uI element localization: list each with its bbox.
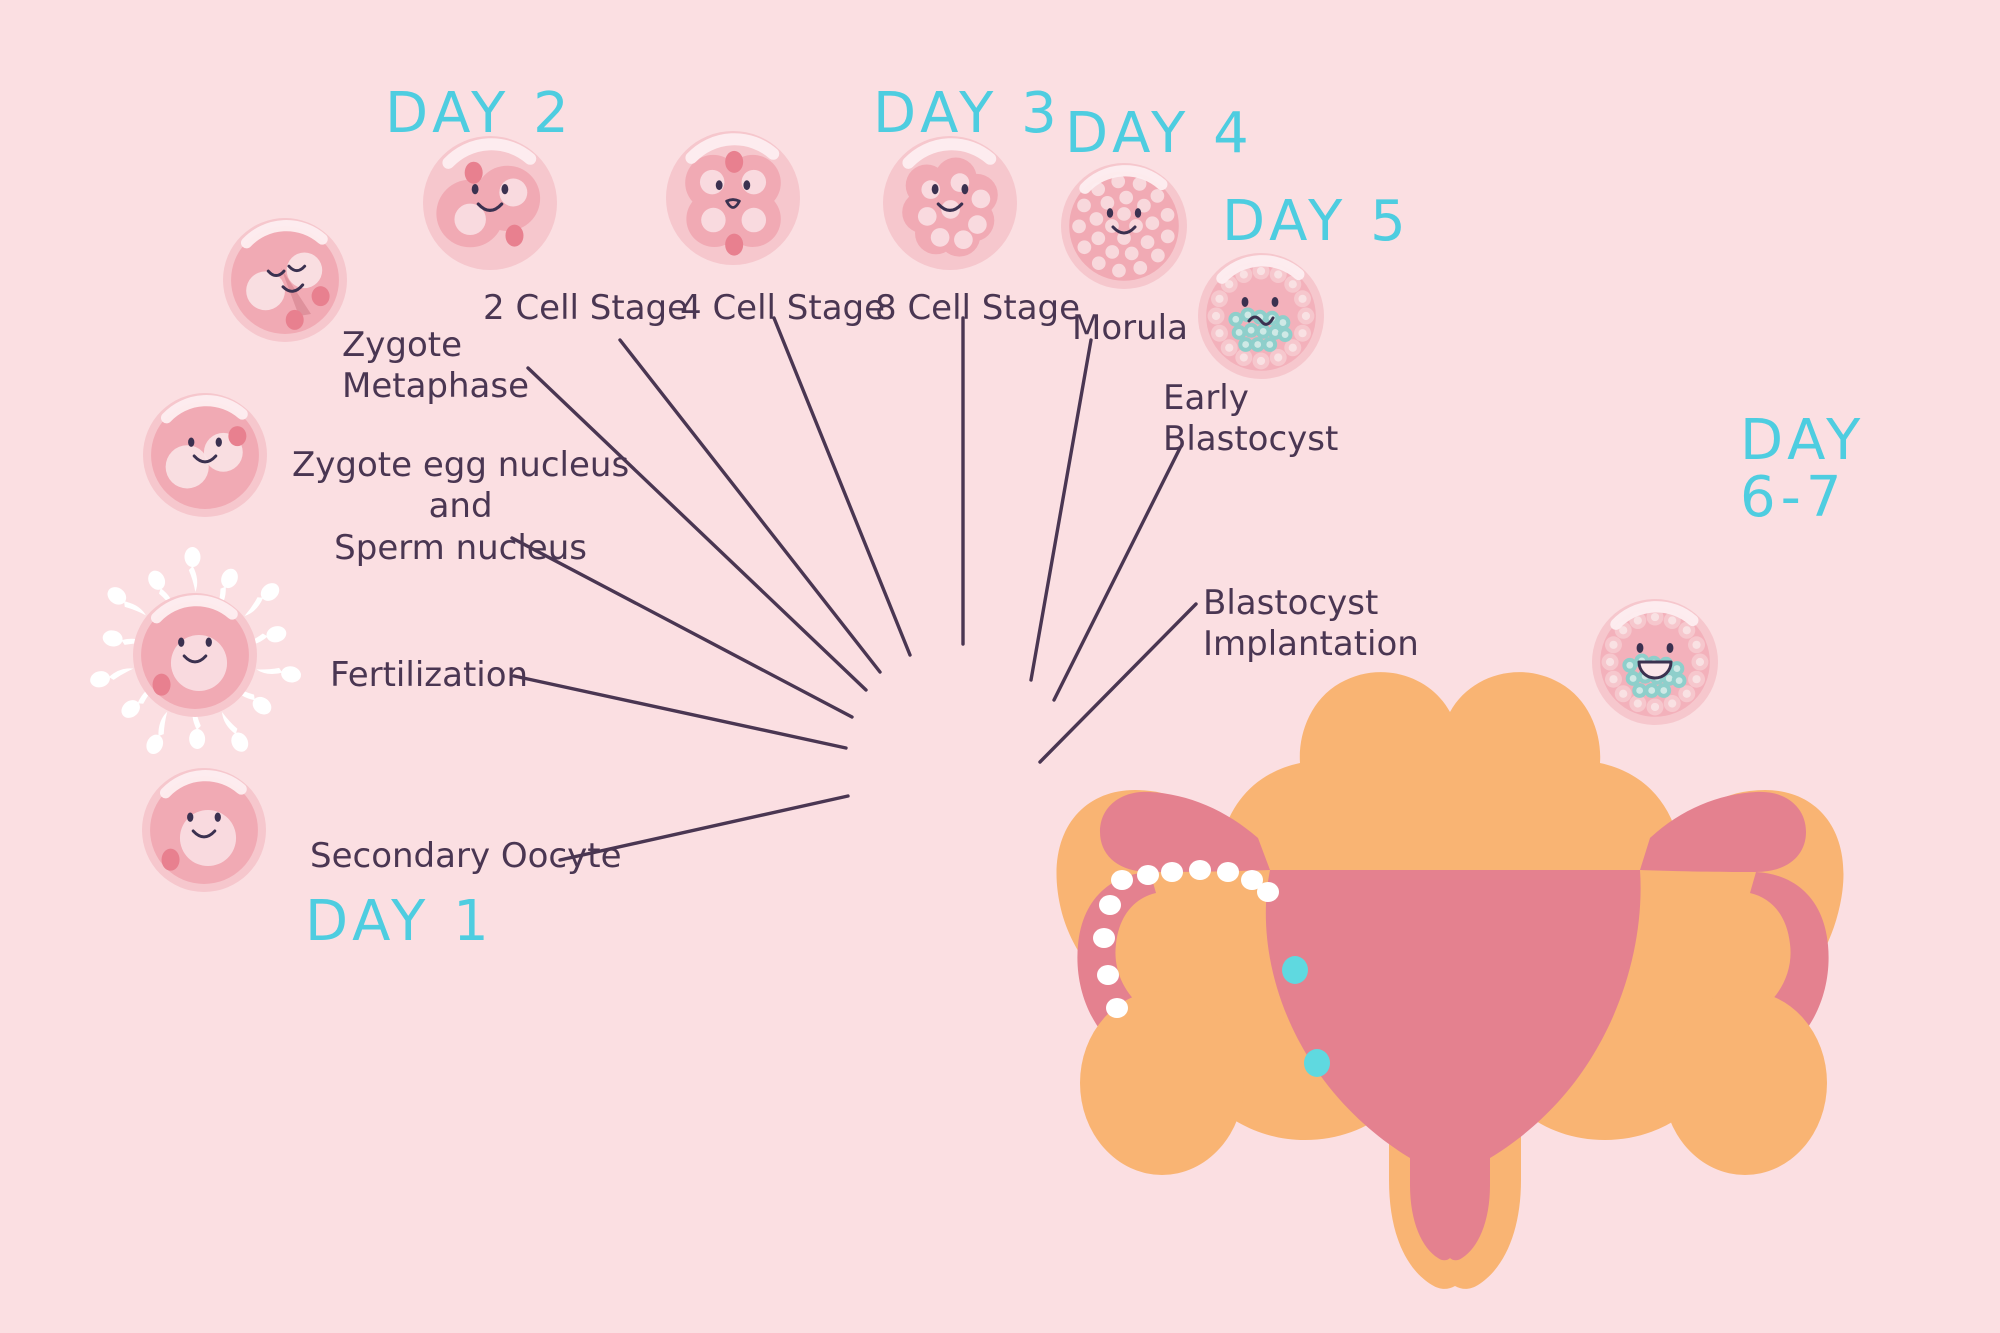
cell-4cell bbox=[666, 131, 800, 265]
day-label-day-5: DAY 5 bbox=[1222, 193, 1411, 250]
morula-cells bbox=[1072, 175, 1174, 278]
cell-shine bbox=[247, 226, 323, 243]
cell-shine bbox=[1616, 607, 1693, 624]
line-4cell bbox=[774, 318, 910, 655]
sperm-halo bbox=[88, 547, 302, 757]
tube-travel-dot bbox=[1111, 870, 1133, 890]
stage-label-fertilization: Fertilization bbox=[330, 655, 528, 696]
tube-travel-dot bbox=[1097, 965, 1119, 985]
cell-8cell bbox=[883, 136, 1017, 270]
cell-shine bbox=[691, 139, 773, 158]
day-label-day-4: DAY 4 bbox=[1065, 105, 1254, 162]
cell-shine bbox=[1222, 261, 1299, 278]
inner-cell-mass bbox=[1228, 308, 1292, 352]
cell-blastocyst-implant bbox=[1592, 599, 1718, 725]
cell-face bbox=[187, 812, 221, 836]
stage-label-eight-cell-stage: 8 Cell Stage bbox=[875, 288, 1080, 329]
cell-early-blastocyst bbox=[1198, 253, 1324, 379]
cell-face bbox=[1107, 208, 1141, 233]
cell-face bbox=[1637, 643, 1674, 678]
zona-pellucida bbox=[423, 136, 557, 270]
cell-face bbox=[178, 637, 212, 661]
line-early-blastocyst bbox=[1054, 448, 1180, 700]
left-ovary bbox=[1080, 991, 1244, 1175]
cell-morula bbox=[1061, 163, 1187, 289]
leader-lines-group bbox=[512, 318, 1196, 860]
cell-zygote-metaphase bbox=[223, 218, 347, 342]
uterus-diagram bbox=[1057, 672, 1844, 1289]
zona-pellucida bbox=[133, 593, 257, 717]
line-fertilization bbox=[514, 676, 846, 748]
cell-face bbox=[1242, 297, 1279, 324]
implantation-dot bbox=[1304, 1049, 1330, 1077]
fallopian-tube-left bbox=[1100, 792, 1270, 872]
cell-shine bbox=[166, 776, 242, 793]
tube-travel-dot bbox=[1099, 895, 1121, 915]
metaphase-spindle bbox=[281, 268, 311, 316]
tube-travel-dot bbox=[1137, 865, 1159, 885]
line-implantation bbox=[1040, 604, 1196, 762]
cell-face bbox=[932, 184, 969, 210]
day-label-day-2: DAY 2 bbox=[385, 85, 574, 142]
stage-label-two-cell-stage: 2 Cell Stage bbox=[483, 288, 688, 329]
zona-pellucida bbox=[142, 768, 266, 892]
tube-travel-dot bbox=[1106, 998, 1128, 1018]
tube-travel-dot bbox=[1217, 862, 1239, 882]
tube-travel-dot bbox=[1257, 882, 1279, 902]
cell-fertilization bbox=[88, 547, 302, 757]
cell-face bbox=[716, 180, 750, 207]
trophoblast-ring bbox=[1602, 609, 1709, 716]
day-label-day-3: DAY 3 bbox=[873, 85, 1062, 142]
inner-cell-mass bbox=[1622, 654, 1686, 698]
stage-label-blastocyst-implantation: Blastocyst Implantation bbox=[1203, 583, 1419, 666]
zona-pellucida bbox=[143, 393, 267, 517]
line-2cell bbox=[620, 340, 880, 672]
stage-label-morula: Morula bbox=[1072, 308, 1188, 349]
stage-label-secondary-oocyte: Secondary Oocyte bbox=[310, 836, 622, 877]
tube-travel-dot bbox=[1161, 862, 1183, 882]
uterus-outer-layer bbox=[1057, 672, 1844, 1289]
day-label-day-6-7: DAY 6-7 bbox=[1740, 412, 1865, 526]
cell-secondary-oocyte bbox=[142, 768, 266, 892]
fallopian-ampulla-left bbox=[1077, 872, 1163, 1064]
right-ovary bbox=[1663, 991, 1827, 1175]
fallopian-ampulla-right bbox=[1744, 872, 1829, 1064]
tube-travel-dot bbox=[1189, 860, 1211, 880]
blastomeres bbox=[902, 158, 998, 257]
stage-label-zygote-nuclei: Zygote egg nucleus and Sperm nucleus bbox=[292, 445, 629, 569]
uterus-endometrium bbox=[1266, 870, 1641, 1260]
cell-face bbox=[188, 437, 222, 461]
stage-label-early-blastocyst: Early Blastocyst bbox=[1163, 378, 1338, 461]
cell-zygote-nuclei bbox=[143, 393, 267, 517]
cell-shine bbox=[908, 144, 990, 163]
stage-label-four-cell-stage: 4 Cell Stage bbox=[680, 288, 885, 329]
day-label-day-1: DAY 1 bbox=[305, 893, 494, 950]
zona-pellucida bbox=[1198, 253, 1324, 379]
trophoblast-ring bbox=[1208, 263, 1315, 370]
implantation-dot bbox=[1282, 956, 1308, 984]
blastomeres bbox=[436, 162, 540, 248]
illustration-layer bbox=[0, 0, 2000, 1333]
cell-shine bbox=[448, 144, 530, 163]
zona-pellucida bbox=[666, 131, 800, 265]
infographic-canvas: DAY 2DAY 3DAY 4DAY 5DAY 6-7DAY 1 Zygote … bbox=[0, 0, 2000, 1333]
line-morula bbox=[1031, 340, 1091, 680]
zona-pellucida bbox=[1592, 599, 1718, 725]
tube-travel-dot bbox=[1241, 870, 1263, 890]
fallopian-tube-right bbox=[1640, 792, 1806, 872]
zona-pellucida bbox=[883, 136, 1017, 270]
cell-shine bbox=[1085, 171, 1162, 188]
tube-travel-dot bbox=[1093, 928, 1115, 948]
blastomeres bbox=[685, 151, 781, 256]
zona-pellucida bbox=[1061, 163, 1187, 289]
cell-shine bbox=[157, 601, 233, 618]
cell-face bbox=[268, 266, 304, 291]
stage-label-zygote-metaphase: Zygote Metaphase bbox=[342, 325, 529, 408]
cell-shine bbox=[167, 401, 243, 418]
cell-2cell bbox=[423, 136, 557, 270]
cell-face bbox=[472, 184, 509, 210]
zona-pellucida bbox=[223, 218, 347, 342]
